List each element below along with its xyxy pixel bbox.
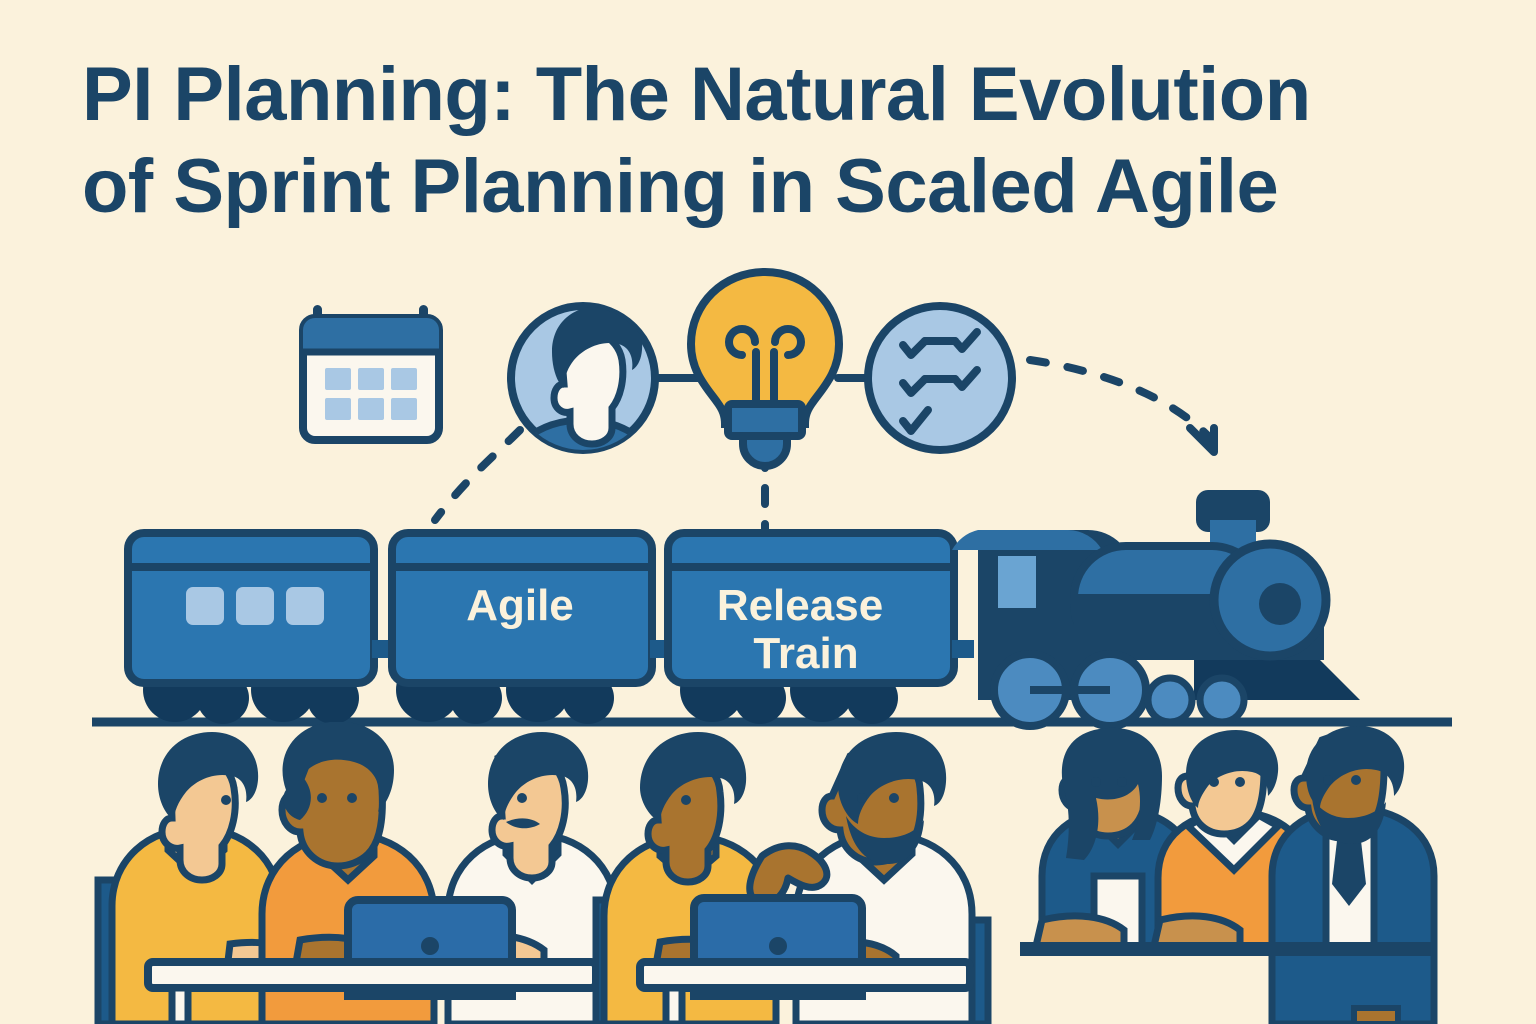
p5-eye-left: [857, 793, 867, 803]
banner-illustration: PI Planning: The Natural Evolution of Sp…: [0, 0, 1536, 1024]
table-middle-top: [640, 962, 970, 988]
car3-label-line-2: Train: [753, 629, 858, 678]
p6-hands: [1036, 916, 1124, 946]
loco-cab-roof: [952, 530, 1102, 550]
laptop-left-logo: [421, 937, 439, 955]
p2-eye-left: [317, 793, 327, 803]
planning-table-left: [98, 722, 616, 1024]
calendar-icon: [303, 305, 439, 440]
car2-label: Agile: [466, 581, 574, 630]
p6-eye-left: [1091, 777, 1101, 787]
p7-eye-left: [1209, 777, 1219, 787]
p2-eye-right: [347, 793, 357, 803]
table-left-leg: [172, 988, 188, 1024]
p7-eye-right: [1235, 777, 1245, 787]
train-car-windows: [128, 533, 396, 683]
train-car-agile: Agile: [392, 533, 672, 683]
loco-cab-window: [998, 556, 1036, 608]
p8-hand-low: [1354, 1008, 1398, 1024]
car1-windows: [186, 587, 324, 625]
table-middle-leg: [666, 988, 682, 1024]
p6-eye-right: [1117, 777, 1127, 787]
title-line-2: of Sprint Planning in Scaled Agile: [82, 144, 1278, 229]
illustration-canvas: PI Planning: The Natural Evolution of Sp…: [0, 0, 1536, 1024]
p1-eye: [221, 795, 231, 805]
loco-headlamp: [1259, 583, 1301, 625]
p5-eye-right: [889, 793, 899, 803]
p3-eye: [517, 793, 527, 803]
counter-right-top: [1020, 942, 1436, 956]
coupler-3: [952, 640, 974, 658]
bulb-screw-base: [728, 404, 802, 436]
car3-label-line-1: Release: [717, 581, 883, 630]
title-line-1: PI Planning: The Natural Evolution: [82, 52, 1311, 137]
laptop-middle-logo: [769, 937, 787, 955]
p8-eye-right: [1351, 775, 1361, 785]
p8-eye-left: [1323, 775, 1333, 785]
train-car-release-train: Release Train: [668, 533, 974, 683]
p7-hands: [1154, 916, 1240, 946]
p4-eye: [681, 795, 691, 805]
table-left-top: [148, 962, 596, 988]
checklist-circle-icon: [868, 306, 1012, 450]
calendar-header-bar: [303, 318, 439, 352]
bulb-contact: [743, 436, 787, 466]
